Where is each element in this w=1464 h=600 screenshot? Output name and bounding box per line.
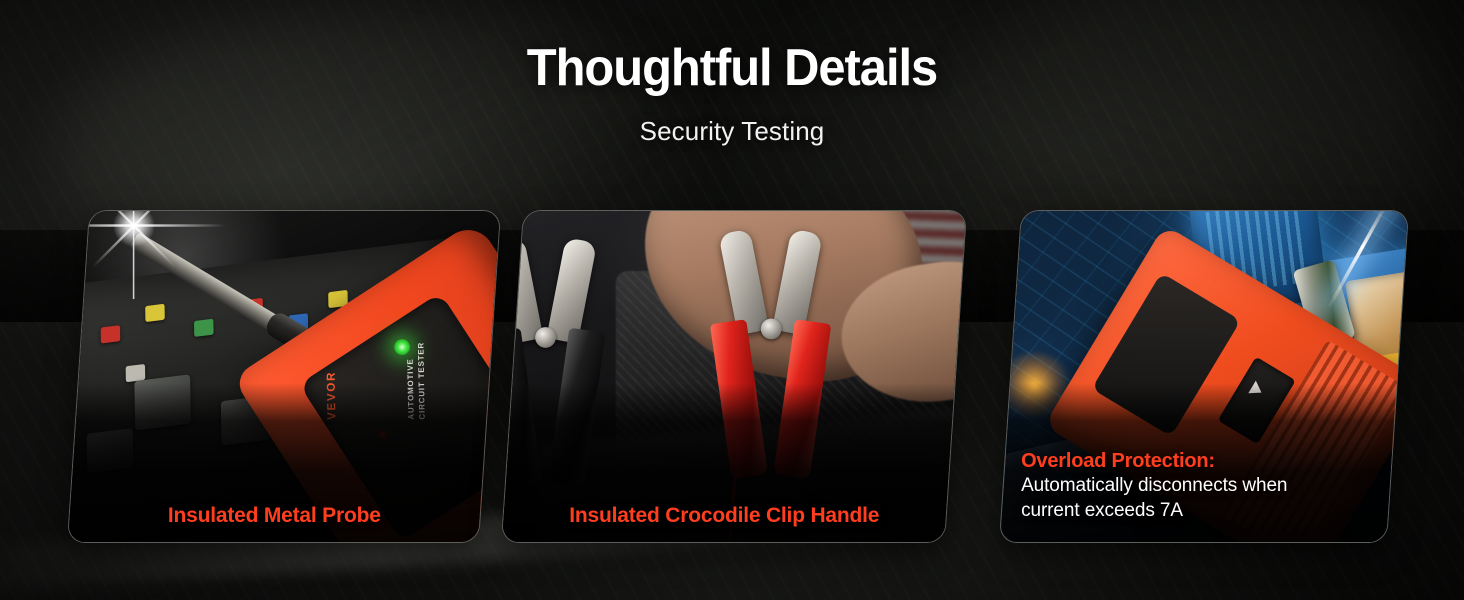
relay-d bbox=[86, 428, 133, 473]
photo-fusebox-probe: VEVOR AUTOMOTIVECIRCUIT TESTER SY-M2 + bbox=[67, 210, 501, 543]
page-subtitle: Security Testing bbox=[0, 116, 1464, 147]
feature-panel-crocodile-clip[interactable]: Insulated Crocodile Clip Handle bbox=[501, 210, 967, 543]
tester-face-label: AUTOMOTIVECIRCUIT TESTER bbox=[406, 343, 430, 421]
crocodile-clip-red bbox=[723, 231, 818, 475]
caption-text-clip: Insulated Crocodile Clip Handle bbox=[519, 504, 929, 528]
panel-image-wrap: VEVOR AUTOMOTIVECIRCUIT TESTER SY-M2 + bbox=[67, 210, 501, 543]
panel-caption: Insulated Crocodile Clip Handle bbox=[503, 504, 945, 542]
clip-pivot-rivet bbox=[535, 327, 556, 348]
fuse-red bbox=[101, 325, 121, 343]
clip-pivot-rivet bbox=[761, 319, 782, 340]
caption-heading-overload: Overload Protection: bbox=[1021, 450, 1371, 473]
caption-body-line-2: current exceeds 7A bbox=[1021, 500, 1371, 524]
caption-text-probe: Insulated Metal Probe bbox=[85, 504, 463, 528]
fuse-green bbox=[195, 319, 215, 337]
brand-logo-vevor: VEVOR bbox=[325, 372, 339, 421]
clip-handle-left bbox=[501, 328, 542, 488]
relay-a bbox=[135, 374, 192, 430]
feature-panel-probe[interactable]: VEVOR AUTOMOTIVECIRCUIT TESTER SY-M2 + I… bbox=[67, 210, 501, 543]
panel-caption: Insulated Metal Probe bbox=[69, 504, 479, 542]
panel-caption: Overload Protection: Automatically disco… bbox=[1003, 450, 1389, 542]
page-title: Thoughtful Details bbox=[44, 42, 1420, 94]
clip-jaw-left bbox=[501, 237, 543, 344]
photo-crocodile-clips bbox=[501, 210, 967, 543]
header: Thoughtful Details Security Testing bbox=[0, 0, 1464, 147]
panel-image-wrap bbox=[501, 210, 967, 543]
caption-body-line-1: Automatically disconnects when bbox=[1021, 474, 1371, 498]
fuse-yellow bbox=[145, 304, 165, 322]
feature-panel-row: VEVOR AUTOMOTIVECIRCUIT TESTER SY-M2 + I… bbox=[0, 210, 1464, 546]
feature-panel-overload-protection[interactable]: Overload Protection: Automatically disco… bbox=[999, 210, 1409, 543]
